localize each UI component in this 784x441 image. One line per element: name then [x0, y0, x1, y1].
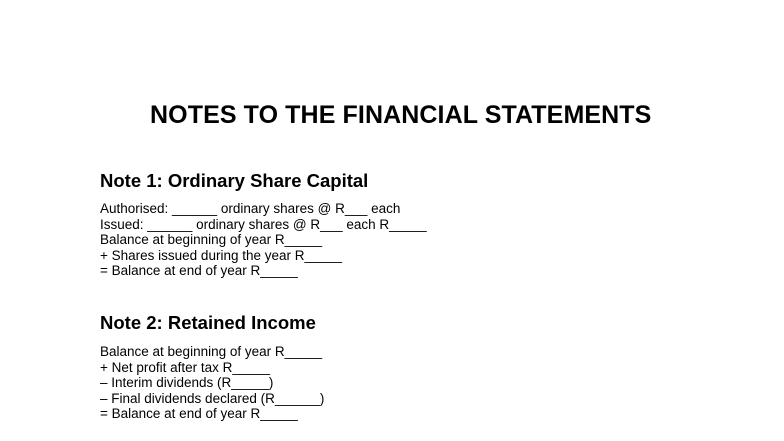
- page-title: NOTES TO THE FINANCIAL STATEMENTS: [150, 100, 651, 130]
- note-1-line-issued: Issued: ______ ordinary shares @ R___ ea…: [100, 217, 427, 233]
- note-1-heading: Note 1: Ordinary Share Capital: [100, 170, 368, 192]
- note-2-body: Balance at beginning of year R_____ + Ne…: [100, 344, 324, 422]
- note-2-line-interim-dividends: – Interim dividends (R_____): [100, 375, 324, 391]
- note-1-line-authorised: Authorised: ______ ordinary shares @ R__…: [100, 201, 427, 217]
- document-page: NOTES TO THE FINANCIAL STATEMENTS Note 1…: [0, 0, 784, 441]
- note-2-line-balance-beginning: Balance at beginning of year R_____: [100, 344, 324, 360]
- note-2-line-net-profit: + Net profit after tax R_____: [100, 360, 324, 376]
- note-2-heading: Note 2: Retained Income: [100, 312, 316, 334]
- note-1-line-balance-end: = Balance at end of year R_____: [100, 263, 427, 279]
- note-2-line-final-dividends: – Final dividends declared (R______): [100, 391, 324, 407]
- note-1-body: Authorised: ______ ordinary shares @ R__…: [100, 201, 427, 279]
- note-2-line-balance-end: = Balance at end of year R_____: [100, 406, 324, 422]
- note-1-line-balance-beginning: Balance at beginning of year R_____: [100, 232, 427, 248]
- note-1-line-shares-issued: + Shares issued during the year R_____: [100, 248, 427, 264]
